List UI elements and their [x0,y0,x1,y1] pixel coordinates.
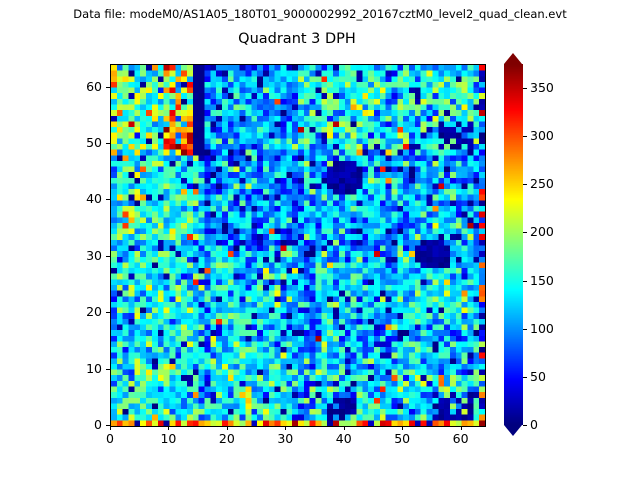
colorbar-ticklabel-200: 200 [530,224,554,239]
y-ticklabel-10: 10 [62,361,102,376]
y-tick-30 [106,256,110,257]
colorbar-tick-200 [523,232,527,233]
x-ticklabel-10: 10 [148,431,188,446]
colorbar-tick-100 [523,329,527,330]
colorbar-ticklabel-300: 300 [530,128,554,143]
y-tick-50 [106,143,110,144]
colorbar-tick-300 [523,136,527,137]
colorbar-ticklabel-250: 250 [530,176,554,191]
colorbar-ticklabel-50: 50 [530,369,546,384]
x-ticklabel-30: 30 [265,431,305,446]
data-file-suptitle: Data file: modeM0/AS1A05_180T01_90000029… [0,7,640,21]
x-tick-20 [227,426,228,430]
x-ticklabel-50: 50 [382,431,422,446]
y-tick-20 [106,312,110,313]
dph-heatmap-canvas [111,65,485,426]
y-ticklabel-30: 30 [62,248,102,263]
colorbar-over-arrow-icon [504,53,522,64]
colorbar-ticklabel-150: 150 [530,273,554,288]
y-ticklabel-20: 20 [62,304,102,319]
colorbar-ticklabel-350: 350 [530,80,554,95]
y-ticklabel-40: 40 [62,191,102,206]
colorbar-ticklabel-0: 0 [530,417,538,432]
x-ticklabel-20: 20 [207,431,247,446]
x-tick-60 [461,426,462,430]
y-tick-60 [106,87,110,88]
y-ticklabel-0: 0 [62,417,102,432]
colorbar-tick-50 [523,377,527,378]
matplotlib-figure: Data file: modeM0/AS1A05_180T01_90000029… [0,0,640,480]
y-tick-10 [106,369,110,370]
colorbar-under-arrow-icon [504,425,522,436]
x-ticklabel-0: 0 [90,431,130,446]
y-ticklabel-60: 60 [62,79,102,94]
x-tick-10 [168,426,169,430]
colorbar-tick-350 [523,88,527,89]
colorbar-tick-150 [523,281,527,282]
colorbar-gradient [504,64,523,425]
colorbar-tick-250 [523,184,527,185]
x-tick-50 [402,426,403,430]
y-ticklabel-50: 50 [62,135,102,150]
plot-title: Quadrant 3 DPH [110,30,484,48]
y-tick-0 [106,425,110,426]
x-tick-0 [110,426,111,430]
y-tick-40 [106,199,110,200]
colorbar-ticklabel-100: 100 [530,321,554,336]
x-tick-40 [344,426,345,430]
x-tick-30 [285,426,286,430]
colorbar [504,64,523,425]
x-ticklabel-60: 60 [441,431,481,446]
colorbar-tick-0 [523,425,527,426]
heatmap-axes [110,64,486,427]
x-ticklabel-40: 40 [324,431,364,446]
